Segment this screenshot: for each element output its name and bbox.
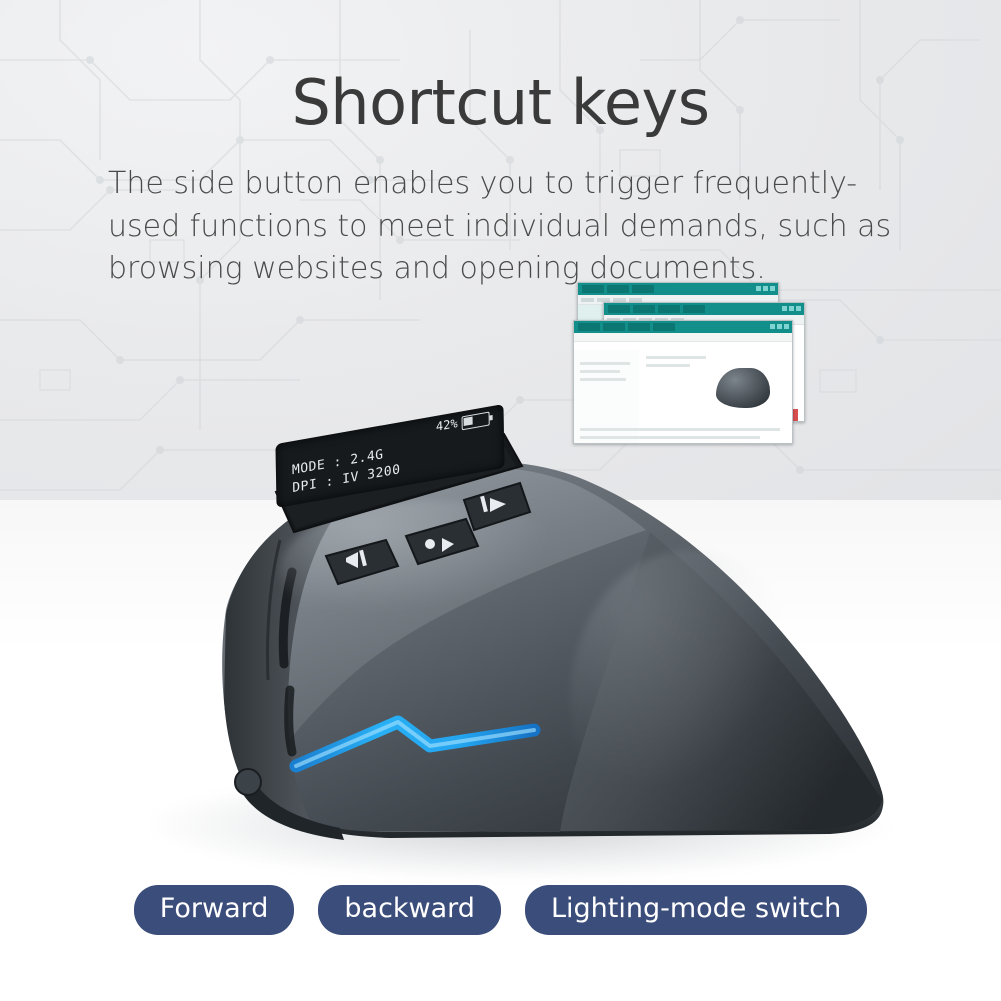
- browser-tabs: [578, 323, 675, 331]
- vertical-mouse: 42% MODE : 2.4G DPI : IV 3200: [130, 400, 910, 870]
- description-text: The side button enables you to trigger f…: [108, 163, 908, 291]
- window-controls: [782, 306, 801, 311]
- browser-nav: [574, 333, 792, 342]
- content-row: [646, 364, 690, 367]
- badge-lighting-mode-switch[interactable]: Lighting-mode switch: [525, 885, 867, 935]
- browser-chrome: [578, 283, 778, 295]
- browser-tabs: [608, 305, 705, 313]
- content-row: [646, 356, 706, 359]
- badge-backward[interactable]: backward: [318, 885, 501, 935]
- mouse-body: [130, 400, 910, 870]
- browser-chrome: [604, 303, 804, 315]
- battery-icon: [462, 411, 490, 430]
- content-row: [580, 378, 626, 381]
- label-badges: Forward backward Lighting-mode switch: [0, 885, 1001, 935]
- promo-image: Shortcut keys The side button enables yo…: [0, 0, 1001, 1001]
- window-controls: [756, 286, 775, 291]
- content-row: [580, 362, 630, 365]
- browser-chrome: [574, 321, 792, 333]
- battery-percent: 42%: [436, 416, 458, 434]
- browser-tabs: [582, 285, 654, 293]
- cable-port: [235, 769, 261, 795]
- page-title: Shortcut keys: [0, 70, 1001, 135]
- shell-highlight-2: [570, 550, 810, 850]
- side-button-lower: [289, 690, 292, 752]
- badge-forward[interactable]: Forward: [134, 885, 295, 935]
- content-row: [580, 370, 620, 373]
- window-controls: [770, 324, 789, 329]
